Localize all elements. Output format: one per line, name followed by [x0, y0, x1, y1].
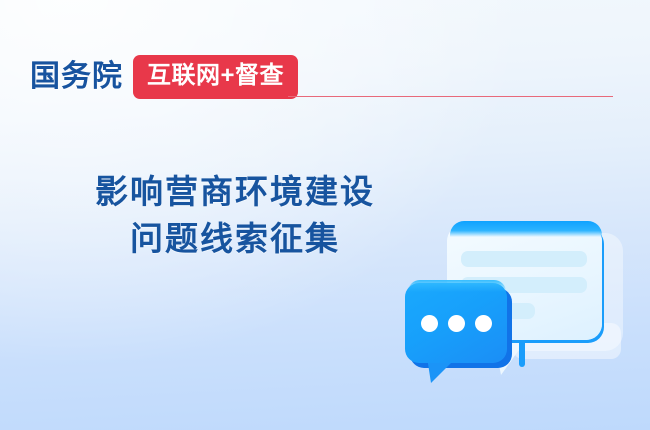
typing-dots-icon [405, 283, 507, 363]
promo-banner: 国务院 互联网+督查 影响营商环境建设 问题线索征集 [0, 0, 650, 430]
typing-dot [475, 315, 492, 332]
typing-dot [448, 315, 465, 332]
pale-bubble-text-line [461, 251, 587, 267]
typing-dot [421, 315, 438, 332]
header-divider [288, 96, 613, 97]
pale-bubble-top-stroke [450, 221, 602, 237]
organization-name: 国务院 [30, 62, 123, 92]
chat-bubbles-illustration [395, 205, 630, 410]
banner-header: 国务院 互联网+督查 [30, 56, 298, 98]
blue-speech-bubble-icon [405, 283, 507, 363]
program-badge: 互联网+督查 [133, 55, 298, 99]
